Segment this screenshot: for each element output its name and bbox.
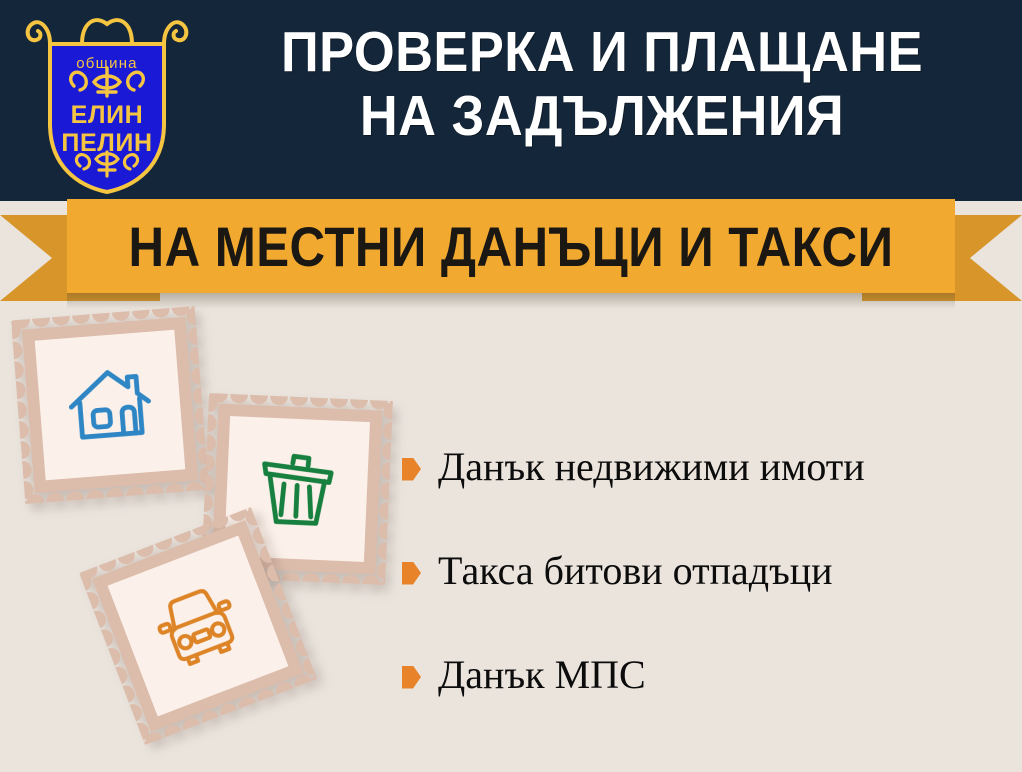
page-title: ПРОВЕРКА И ПЛАЩАНЕ НА ЗАДЪЛЖЕНИЯ <box>228 20 975 148</box>
bullet-arrow-icon <box>402 562 421 585</box>
list-item[interactable]: Данък МПС <box>402 623 1012 727</box>
list-item[interactable]: Такса битови отпадъци <box>402 519 1012 623</box>
trash-can-icon <box>251 443 343 535</box>
list-item[interactable]: Данък недвижими имоти <box>402 415 1012 519</box>
page-title-line-2: НА ЗАДЪЛЖЕНИЯ <box>228 84 975 148</box>
house-icon <box>63 358 158 453</box>
crest-name-line1: ЕЛИН <box>71 101 144 129</box>
bullet-arrow-icon <box>402 458 421 481</box>
stamp-inner <box>35 330 186 481</box>
subtitle-ribbon: НА МЕСТНИ ДАНЪЦИ И ТАКСИ <box>0 199 1022 309</box>
poster-canvas: община ЕЛИН ПЕЛИН <box>0 0 1022 772</box>
ribbon-shadow <box>67 293 955 309</box>
list-item-label: Данък МПС <box>438 653 646 697</box>
coat-of-arms-icon: община ЕЛИН ПЕЛИН <box>22 6 192 196</box>
bullet-arrow-icon <box>402 666 421 689</box>
list-item-label: Такса битови отпадъци <box>438 549 833 593</box>
list-item-label: Данък недвижими имоти <box>438 445 865 489</box>
header-bar: община ЕЛИН ПЕЛИН <box>0 0 1022 201</box>
ribbon-banner: НА МЕСТНИ ДАНЪЦИ И ТАКСИ <box>67 199 955 293</box>
stamp-card-house <box>11 306 209 504</box>
page-title-line-1: ПРОВЕРКА И ПЛАЩАНЕ <box>281 20 923 84</box>
ribbon-text: НА МЕСТНИ ДАНЪЦИ И ТАКСИ <box>120 199 901 293</box>
tax-types-list: Данък недвижими имоти Такса битови отпад… <box>402 415 1012 727</box>
car-icon <box>141 569 255 683</box>
